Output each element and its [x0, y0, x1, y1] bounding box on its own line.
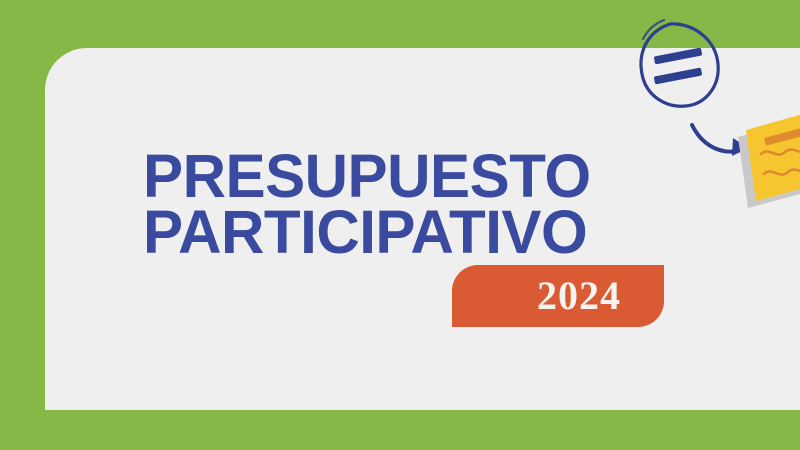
headline-line-2: PARTICIPATIVO [143, 204, 734, 260]
year-label: 2024 [452, 276, 664, 316]
headline-line-1: PRESUPUESTO [143, 148, 734, 204]
year-banner: 2024 [452, 265, 664, 327]
poster-canvas: PRESUPUESTO PARTICIPATIVO 2024 [0, 0, 800, 450]
